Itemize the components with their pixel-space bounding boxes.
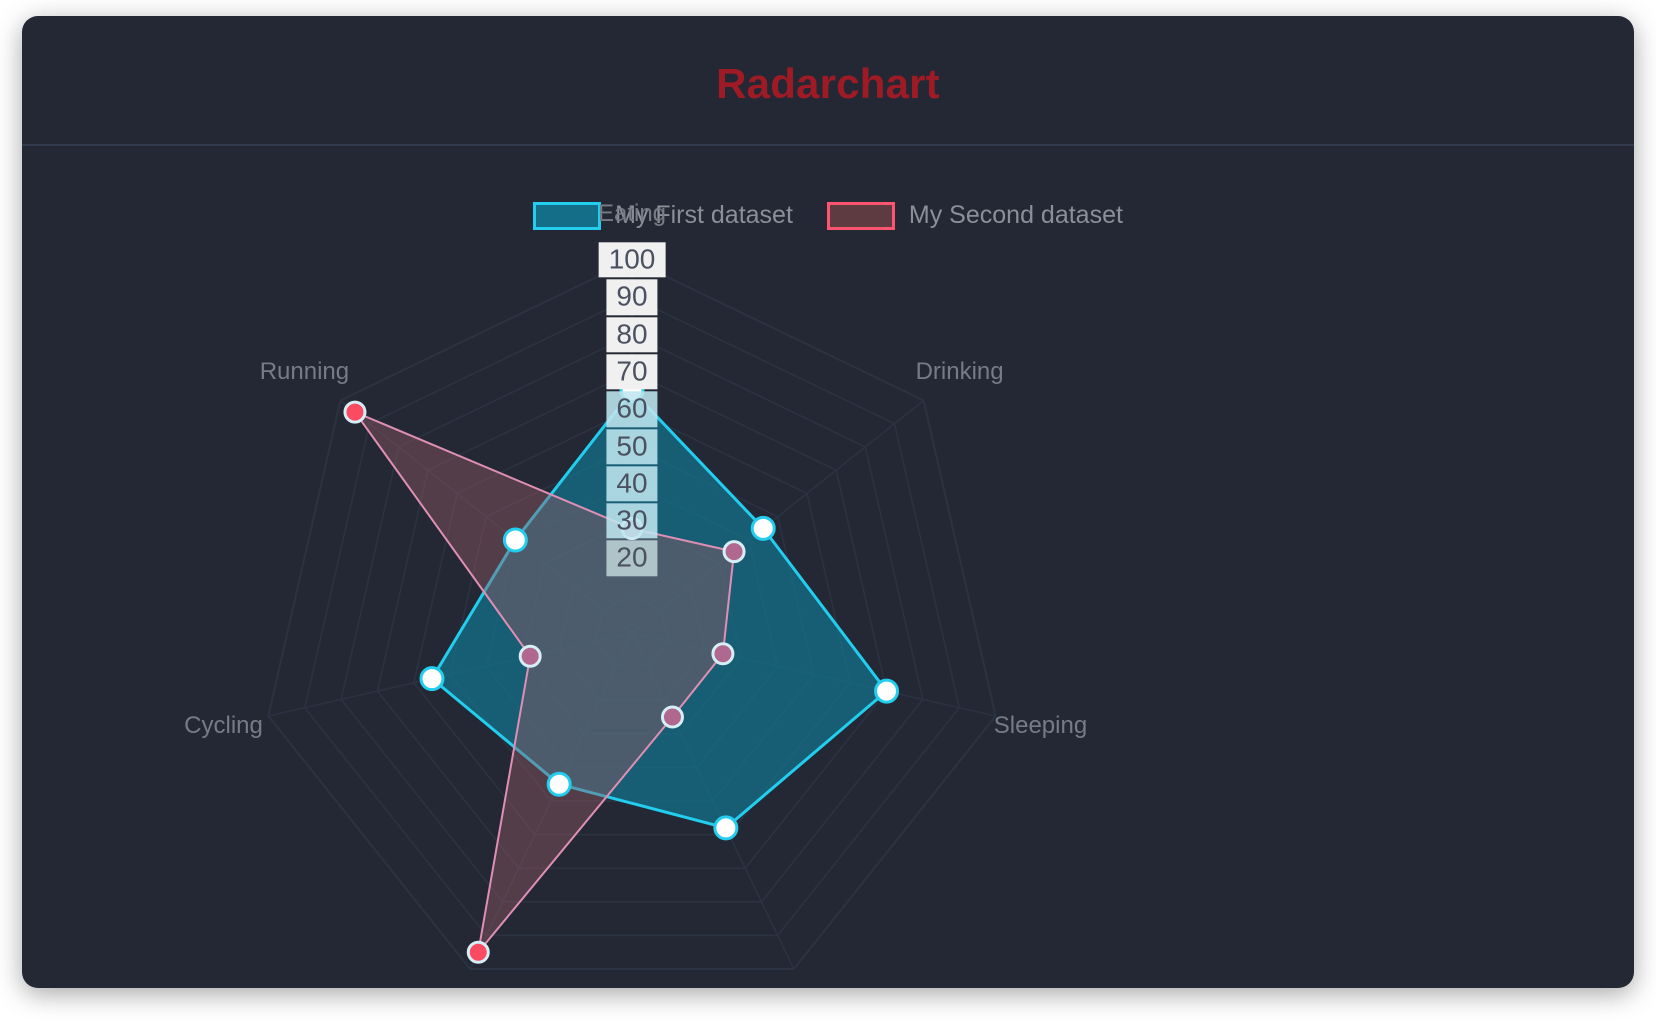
radar-chart-canvas[interactable] xyxy=(22,16,1634,988)
data-point-1-sleeping[interactable] xyxy=(876,680,898,702)
chart-panel: Radarchart My First dataset My Second da… xyxy=(22,16,1634,988)
tick-label-40: 40 xyxy=(606,466,657,501)
data-point-2-sleeping[interactable] xyxy=(713,644,733,664)
axis-label-running: Running xyxy=(260,358,349,386)
axis-label-eating: Eating xyxy=(598,200,666,228)
data-point-1-coding[interactable] xyxy=(548,773,570,795)
data-point-2-cycling[interactable] xyxy=(520,646,540,666)
data-point-1-drinking[interactable] xyxy=(752,517,774,539)
axis-label-cycling: Cycling xyxy=(184,712,263,740)
data-point-2-coding[interactable] xyxy=(468,942,488,962)
axis-label-drinking: Drinking xyxy=(916,358,1004,386)
data-point-2-drinking[interactable] xyxy=(724,542,744,562)
tick-label-60: 60 xyxy=(606,391,657,426)
tick-label-30: 30 xyxy=(606,503,657,538)
tick-label-70: 70 xyxy=(606,354,657,389)
tick-label-50: 50 xyxy=(606,429,657,464)
tick-label-80: 80 xyxy=(606,317,657,352)
data-point-2-running[interactable] xyxy=(345,402,365,422)
axis-label-sleeping: Sleeping xyxy=(994,712,1087,740)
data-point-1-designing[interactable] xyxy=(715,817,737,839)
data-point-1-cycling[interactable] xyxy=(421,668,443,690)
tick-label-100: 100 xyxy=(599,242,666,277)
tick-label-90: 90 xyxy=(606,280,657,315)
data-point-2-designing[interactable] xyxy=(662,707,682,727)
tick-label-20: 20 xyxy=(606,541,657,576)
screenshot-root: Radarchart My First dataset My Second da… xyxy=(0,0,1656,1020)
data-point-1-running[interactable] xyxy=(504,529,526,551)
